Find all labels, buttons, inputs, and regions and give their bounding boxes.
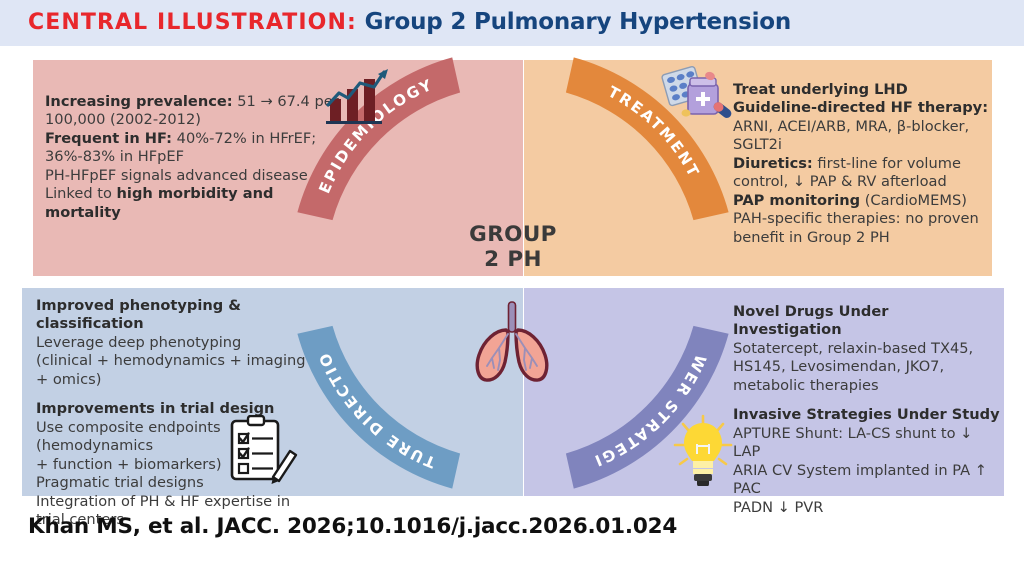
text-line: PAH-specific therapies: no proven benefi…: [733, 210, 995, 247]
pills-icon: [660, 66, 732, 128]
center-label: GROUP 2 PH: [418, 222, 608, 273]
text-line: PADN ↓ PVR: [733, 499, 1001, 517]
text-line: APTURE Shunt: LA-CS shunt to ↓ LAP: [733, 425, 1001, 462]
text-line: ARIA CV System implanted in PA ↑ PAC: [733, 462, 1001, 499]
page-title: CENTRAL ILLUSTRATION: Group 2 Pulmonary …: [28, 9, 791, 35]
center-label-line1: GROUP: [418, 222, 608, 247]
text-line: PAP monitoring (CardioMEMS): [733, 192, 995, 210]
text-line: HS145, Levosimendan, JKO7,: [733, 358, 1001, 376]
footer-citation: Khan MS, et al. JACC. 2026;10.1016/j.jac…: [28, 514, 677, 539]
text-emphasis: Improved phenotyping & classification: [36, 297, 241, 332]
treatment-text: Treat underlying LHDGuideline-directed H…: [733, 81, 995, 247]
bar-chart-icon: [322, 67, 390, 129]
text-line: metabolic therapies: [733, 377, 1001, 395]
lightbulb-icon: [672, 414, 734, 486]
page-title-eyebrow: CENTRAL ILLUSTRATION:: [28, 10, 357, 35]
text-line: Novel Drugs Under Investigation: [733, 303, 1001, 340]
newer-strategies-text: Novel Drugs Under InvestigationSotaterce…: [733, 303, 1001, 517]
text-emphasis: Frequent in HF:: [45, 130, 172, 147]
text-emphasis: Novel Drugs Under Investigation: [733, 303, 888, 338]
page-title-main: [357, 9, 365, 35]
clipboard-pencil-icon: [228, 415, 298, 485]
text-emphasis: PAP monitoring: [733, 192, 860, 209]
lungs-icon: [466, 300, 558, 384]
text-emphasis: Increasing prevalence:: [45, 93, 233, 110]
text-line: Invasive Strategies Under Study: [733, 406, 1001, 424]
text-line: Diuretics: first-line for volume control…: [733, 155, 995, 192]
center-label-line2: 2 PH: [418, 247, 608, 272]
text-emphasis: Treat underlying LHD: [733, 81, 908, 98]
text-emphasis: Invasive Strategies Under Study: [733, 406, 1000, 423]
text-line: Treat underlying LHD: [733, 81, 995, 99]
text-emphasis: high morbidity and mortality: [45, 185, 273, 220]
text-emphasis: Guideline-directed HF therapy:: [733, 99, 988, 116]
page-title-text: Group 2 Pulmonary Hypertension: [365, 9, 791, 35]
text-line: Guideline-directed HF therapy: ARNI, ACE…: [733, 99, 995, 154]
text-emphasis: Diuretics:: [733, 155, 813, 172]
ring-segment-future-directions[interactable]: [297, 326, 460, 489]
text-line: Sotatercept, relaxin-based TX45,: [733, 340, 1001, 358]
paragraph-gap: [733, 395, 1001, 406]
